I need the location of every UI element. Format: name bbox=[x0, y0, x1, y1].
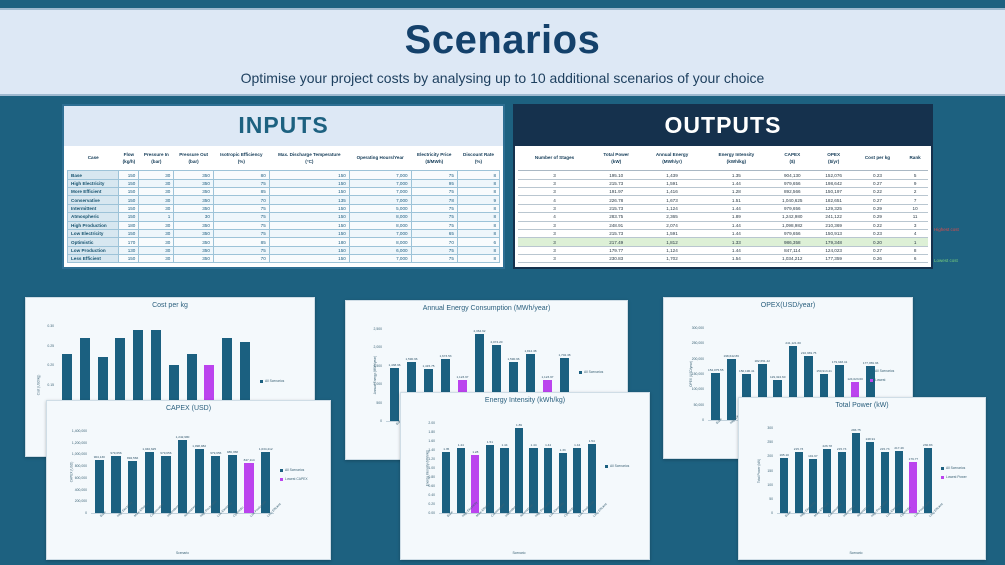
bar-value-label: 1,034,212 bbox=[259, 447, 273, 451]
chart-title: Energy Intensity (kWh/kg) bbox=[401, 393, 649, 404]
outputs-header-col-1: Total Power(kW) bbox=[591, 148, 641, 171]
cell-opex: 124,023 bbox=[815, 246, 853, 254]
y-tick-label: 1.20 bbox=[401, 457, 435, 461]
cell-capex: 986,358 bbox=[770, 238, 815, 246]
cell-stages: 4 bbox=[518, 213, 591, 221]
y-tick-label: 400,000 bbox=[47, 488, 87, 492]
legend-label: All Scenarios bbox=[584, 370, 603, 375]
y-tick-label: 1,500 bbox=[346, 364, 382, 368]
bar-item[interactable]: 198,642.86 bbox=[723, 328, 738, 420]
chart-title: Total Power (kW) bbox=[739, 398, 985, 409]
bar[interactable] bbox=[244, 463, 253, 513]
table-row[interactable]: 3217.491,8121.33986,358179,3480.201 bbox=[518, 238, 928, 246]
table-row[interactable]: More Efficient15030350851507,000758 bbox=[68, 188, 500, 196]
cell-discount: 9 bbox=[457, 196, 499, 204]
cell-price: 75 bbox=[411, 188, 457, 196]
legend-item[interactable]: Lowest CAPEX bbox=[280, 477, 330, 482]
cell-stages: 3 bbox=[518, 229, 591, 237]
y-tick-label: 300,000 bbox=[664, 326, 704, 330]
bar-value-label: 1,590.96 bbox=[507, 357, 519, 361]
bar-value-label: 1.54 bbox=[589, 439, 595, 443]
cell-p_out: 350 bbox=[174, 179, 214, 187]
cell-power: 195.10 bbox=[591, 171, 641, 179]
bar-value-label: 283.75 bbox=[851, 428, 860, 432]
y-tick-label: 0 bbox=[664, 418, 704, 422]
legend-swatch bbox=[870, 379, 873, 382]
y-tick-label: 1.00 bbox=[401, 466, 435, 470]
cell-hours: 7,000 bbox=[349, 255, 411, 263]
cell-cost: 0.22 bbox=[853, 221, 902, 229]
cell-flow: 170 bbox=[119, 238, 139, 246]
bar-value-label: 1,242,980 bbox=[176, 435, 190, 439]
y-tick-label: 150,000 bbox=[664, 372, 704, 376]
cell-temp: 150 bbox=[269, 255, 349, 263]
legend-item[interactable]: All Scenarios bbox=[870, 369, 912, 374]
cell-capex: 1,034,212 bbox=[770, 255, 815, 263]
cell-price: 75 bbox=[411, 204, 457, 212]
y-tick-label: 2.00 bbox=[401, 421, 435, 425]
table-row[interactable]: Base15030350801507,000758 bbox=[68, 171, 500, 179]
bar-value-label: 150,913.41 bbox=[816, 369, 831, 373]
cell-power: 215.73 bbox=[591, 229, 641, 237]
bar-item[interactable]: 979,656 bbox=[108, 431, 125, 513]
bar-value-label: 904,130 bbox=[94, 455, 105, 459]
bar-value-label: 1,415.75 bbox=[422, 364, 434, 368]
chart-title: OPEX(USD/year) bbox=[664, 298, 912, 309]
cell-price: 75 bbox=[411, 255, 457, 263]
chart-title: Annual Energy Consumption (MWh/year) bbox=[346, 301, 627, 312]
y-tick-label: 0.60 bbox=[401, 484, 435, 488]
cell-flow: 130 bbox=[119, 246, 139, 254]
x-tick-labels: BaseHigh ElectricityMore EfficientConser… bbox=[777, 515, 935, 539]
cell-energy: 1,439 bbox=[641, 171, 703, 179]
cell-temp: 150 bbox=[269, 204, 349, 212]
legend-label: All Scenarios bbox=[285, 468, 304, 473]
cell-temp: 180 bbox=[269, 238, 349, 246]
cell-intensity: 1.33 bbox=[703, 238, 770, 246]
cell-p_in: 30 bbox=[139, 196, 174, 204]
x-axis-title: Scenario bbox=[439, 551, 599, 555]
cell-discount: 8 bbox=[457, 221, 499, 229]
cell-hours: 7,000 bbox=[349, 171, 411, 179]
cell-hours: 7,000 bbox=[349, 188, 411, 196]
chart-legend: All Scenarios bbox=[605, 464, 649, 473]
cell-hours: 5,000 bbox=[349, 204, 411, 212]
bar[interactable] bbox=[780, 458, 788, 513]
cell-p_in: 30 bbox=[139, 188, 174, 196]
bar[interactable] bbox=[442, 452, 450, 513]
cell-rank: 2 bbox=[902, 188, 928, 196]
bar-item[interactable]: 1,040,625 bbox=[141, 431, 158, 513]
x-tick-labels: BaseHigh ElectricityMore EfficientConser… bbox=[439, 515, 599, 539]
legend-swatch bbox=[280, 478, 283, 481]
inputs-panel-title: INPUTS bbox=[64, 106, 503, 146]
cell-temp: 150 bbox=[269, 229, 349, 237]
y-tick-label: 2,500 bbox=[346, 327, 382, 331]
bar-item[interactable]: 226.78 bbox=[820, 428, 834, 513]
legend-item[interactable]: All Scenarios bbox=[605, 464, 649, 469]
cell-intensity: 1.35 bbox=[703, 171, 770, 179]
cell-temp: 135 bbox=[269, 196, 349, 204]
cell-capex: 892,566 bbox=[770, 188, 815, 196]
bar-value-label: 248.91 bbox=[866, 437, 875, 441]
y-tick-label: 1.40 bbox=[401, 448, 435, 452]
cell-capex: 1,242,980 bbox=[770, 213, 815, 221]
y-tick-label: 1.60 bbox=[401, 439, 435, 443]
cell-flow: 150 bbox=[119, 255, 139, 263]
x-axis-title: Scenario bbox=[777, 551, 935, 555]
bar-item[interactable]: 1.44 bbox=[497, 423, 512, 513]
bar-item[interactable]: 1.44 bbox=[526, 423, 541, 513]
cell-eff: 75 bbox=[213, 204, 269, 212]
table-row[interactable]: Optimistic17030350851808,000706 bbox=[68, 238, 500, 246]
cell-eff: 75 bbox=[213, 246, 269, 254]
inputs-header-row: CaseFlow(kg/h)Pressure In(bar)Pressure O… bbox=[68, 148, 500, 171]
bar-item[interactable]: 1.89 bbox=[512, 423, 527, 513]
cell-case: Intermittent bbox=[68, 204, 119, 212]
cell-hours: 8,000 bbox=[349, 221, 411, 229]
legend-swatch bbox=[280, 469, 283, 472]
cell-intensity: 1.54 bbox=[703, 255, 770, 263]
bar-value-label: 2,074.20 bbox=[490, 340, 502, 344]
cell-eff: 75 bbox=[213, 221, 269, 229]
bar[interactable] bbox=[852, 433, 860, 513]
cell-energy: 1,702 bbox=[641, 255, 703, 263]
cell-discount: 8 bbox=[457, 188, 499, 196]
cell-power: 215.73 bbox=[591, 179, 641, 187]
cell-price: 95 bbox=[411, 179, 457, 187]
bar[interactable] bbox=[711, 373, 720, 420]
bar-item[interactable]: 986,358 bbox=[224, 431, 241, 513]
cell-discount: 8 bbox=[457, 229, 499, 237]
bar-value-label: 217.49 bbox=[894, 446, 903, 450]
cell-opex: 182,651 bbox=[815, 196, 853, 204]
cell-opex: 179,348 bbox=[815, 238, 853, 246]
table-row[interactable]: 4283.752,3651.891,242,980241,1220.2911 bbox=[518, 213, 928, 221]
y-axis-title: Annual Energy (MWh/year) bbox=[373, 356, 377, 394]
y-tick-label: 150 bbox=[739, 469, 773, 473]
table-row[interactable]: 3215.731,1241.44979,656129,3250.2910 bbox=[518, 204, 928, 212]
legend-swatch bbox=[870, 370, 873, 373]
cell-rank: 1 bbox=[902, 238, 928, 246]
legend-swatch bbox=[605, 465, 608, 468]
bar-value-label: 195.10 bbox=[779, 453, 788, 457]
cell-opex: 152,076 bbox=[815, 171, 853, 179]
outputs-header-col-7: Rank bbox=[902, 148, 928, 171]
bar-item[interactable]: 904,130 bbox=[91, 431, 108, 513]
legend-item[interactable]: All Scenarios bbox=[260, 379, 314, 384]
cell-cost: 0.29 bbox=[853, 213, 902, 221]
cell-flow: 180 bbox=[119, 221, 139, 229]
legend-item[interactable]: All Scenarios bbox=[941, 466, 985, 471]
cell-cost: 0.20 bbox=[853, 238, 902, 246]
table-row[interactable]: 3215.731,5911.44979,656198,6420.279 bbox=[518, 179, 928, 187]
table-row[interactable]: High Production18030350751508,000758 bbox=[68, 221, 500, 229]
y-tick-label: 0.25 bbox=[26, 344, 54, 348]
table-row[interactable]: 3195.101,4391.35904,130152,0760.235 bbox=[518, 171, 928, 179]
cell-p_in: 30 bbox=[139, 238, 174, 246]
bar-value-label: 979,656 bbox=[110, 451, 121, 455]
cell-stages: 3 bbox=[518, 171, 591, 179]
bar-value-label: 152,075.55 bbox=[708, 368, 723, 372]
cell-opex: 210,369 bbox=[815, 221, 853, 229]
table-row[interactable]: 3191.971,4161.28892,566150,1970.222 bbox=[518, 188, 928, 196]
cell-power: 191.97 bbox=[591, 188, 641, 196]
legend-swatch bbox=[260, 380, 263, 383]
y-tick-label: 0 bbox=[346, 419, 382, 423]
inputs-header-col-4: Isotropic Efficiency(%) bbox=[213, 148, 269, 171]
cell-p_in: 30 bbox=[139, 171, 174, 179]
legend-label: All Scenarios bbox=[265, 379, 284, 384]
legend-label: All Scenarios bbox=[946, 466, 965, 471]
bar-value-label: 2,364.62 bbox=[473, 329, 485, 333]
lowest-cost-annotation: Lowest cost bbox=[934, 258, 958, 263]
table-row[interactable]: 3179.771,1241.44847,114124,0230.278 bbox=[518, 246, 928, 254]
bar-item[interactable]: 215.73 bbox=[791, 428, 805, 513]
table-row[interactable]: Intermittent15030350751505,000758 bbox=[68, 204, 500, 212]
legend-item[interactable]: All Scenarios bbox=[280, 468, 330, 473]
bar-value-label: 1,123.97 bbox=[456, 375, 468, 379]
cell-case: More Efficient bbox=[68, 188, 119, 196]
bar-value-label: 1,812.38 bbox=[524, 349, 536, 353]
cell-power: 283.75 bbox=[591, 213, 641, 221]
legend-label: Lowest bbox=[875, 378, 885, 383]
bar-value-label: 177,359.36 bbox=[863, 361, 878, 365]
bars-group: 1.351.441.281.511.441.891.441.441.331.44… bbox=[439, 423, 599, 513]
cell-power: 217.49 bbox=[591, 238, 641, 246]
cell-rank: 8 bbox=[902, 246, 928, 254]
cell-capex: 979,656 bbox=[770, 204, 815, 212]
bar-item[interactable]: 215.73 bbox=[834, 428, 848, 513]
cell-energy: 1,124 bbox=[641, 246, 703, 254]
legend-label: All Scenarios bbox=[610, 464, 629, 469]
table-row[interactable]: Atmospheric150130751508,000758 bbox=[68, 213, 500, 221]
y-tick-label: 200 bbox=[739, 454, 773, 458]
cell-rank: 7 bbox=[902, 196, 928, 204]
bar-value-label: 241,121.60 bbox=[785, 341, 800, 345]
bar-item[interactable]: 1.35 bbox=[439, 423, 454, 513]
cell-flow: 150 bbox=[119, 179, 139, 187]
bar-value-label: 1.44 bbox=[531, 443, 537, 447]
cell-stages: 4 bbox=[518, 196, 591, 204]
cell-temp: 150 bbox=[269, 179, 349, 187]
table-row[interactable]: Low Electricity15030350751507,000658 bbox=[68, 229, 500, 237]
y-tick-label: 1.80 bbox=[401, 430, 435, 434]
cell-capex: 904,130 bbox=[770, 171, 815, 179]
cell-stages: 3 bbox=[518, 255, 591, 263]
bar-item[interactable]: 979,656 bbox=[158, 431, 175, 513]
chart-legend: All ScenariosLowest Power bbox=[941, 466, 985, 484]
cell-eff: 75 bbox=[213, 213, 269, 221]
inputs-table: CaseFlow(kg/h)Pressure In(bar)Pressure O… bbox=[67, 148, 500, 263]
bar-item[interactable]: 1.33 bbox=[555, 423, 570, 513]
bar-value-label: 1.44 bbox=[545, 443, 551, 447]
inputs-header-col-6: Operating Hours/Year bbox=[349, 148, 411, 171]
cell-p_out: 350 bbox=[174, 188, 214, 196]
cell-case: Less Efficient bbox=[68, 255, 119, 263]
bar-item[interactable]: 1.51 bbox=[483, 423, 498, 513]
y-tick-label: 0 bbox=[739, 511, 773, 515]
cell-capex: 847,114 bbox=[770, 246, 815, 254]
cell-discount: 8 bbox=[457, 179, 499, 187]
table-row[interactable]: 3248.912,0741.441,098,982210,3690.223 bbox=[518, 221, 928, 229]
cell-hours: 8,000 bbox=[349, 238, 411, 246]
bar-item[interactable]: 847,114 bbox=[241, 431, 258, 513]
cell-p_in: 30 bbox=[139, 229, 174, 237]
bar[interactable] bbox=[95, 460, 104, 513]
chart-card-capex[interactable]: CAPEX (USD)CAPEX (USD)0200,000400,000600… bbox=[46, 400, 331, 560]
bar[interactable] bbox=[795, 452, 803, 513]
cell-power: 179.77 bbox=[591, 246, 641, 254]
legend-swatch bbox=[941, 476, 944, 479]
y-tick-label: 600,000 bbox=[47, 476, 87, 480]
table-row[interactable]: 3230.831,7021.541,034,212177,3590.266 bbox=[518, 255, 928, 263]
highest-cost-annotation: Highest cost bbox=[934, 227, 959, 232]
cell-capex: 1,098,982 bbox=[770, 221, 815, 229]
y-tick-label: 0.80 bbox=[401, 475, 435, 479]
bar-value-label: 1.44 bbox=[458, 443, 464, 447]
outputs-table: Number of StagesTotal Power(kW)Annual En… bbox=[518, 148, 928, 263]
bar-item[interactable]: 1.44 bbox=[570, 423, 585, 513]
legend-item[interactable]: Lowest Power bbox=[941, 475, 985, 480]
cell-rank: 11 bbox=[902, 213, 928, 221]
bar-item[interactable]: 1,242,980 bbox=[174, 431, 191, 513]
y-tick-label: 50 bbox=[739, 497, 773, 501]
cell-p_in: 30 bbox=[139, 246, 174, 254]
cell-p_out: 350 bbox=[174, 255, 214, 263]
inputs-header-col-7: Electricity Price($/MWh) bbox=[411, 148, 457, 171]
bar-value-label: 179.77 bbox=[909, 457, 918, 461]
cell-opex: 150,913 bbox=[815, 229, 853, 237]
chart-card-total_power[interactable]: Total Power (kW)Total Power (kW)05010015… bbox=[738, 397, 986, 560]
cell-hours: 6,000 bbox=[349, 246, 411, 254]
cell-case: High Production bbox=[68, 221, 119, 229]
cell-eff: 70 bbox=[213, 196, 269, 204]
bar[interactable] bbox=[573, 448, 581, 513]
table-row[interactable]: 4226.781,6731.511,040,625182,6510.277 bbox=[518, 196, 928, 204]
x-axis-title: Scenario bbox=[91, 551, 274, 555]
outputs-panel-title: OUTPUTS bbox=[515, 106, 931, 146]
page-header: Scenarios Optimise your project costs by… bbox=[0, 8, 1005, 96]
table-row[interactable]: High Electricity15030350751507,000958 bbox=[68, 179, 500, 187]
cell-case: Conservative bbox=[68, 196, 119, 204]
bar-value-label: 1,673.53 bbox=[439, 354, 451, 358]
cell-discount: 8 bbox=[457, 255, 499, 263]
cell-cost: 0.27 bbox=[853, 179, 902, 187]
bar-item[interactable]: 892,566 bbox=[124, 431, 141, 513]
cell-discount: 8 bbox=[457, 246, 499, 254]
cell-opex: 198,642 bbox=[815, 179, 853, 187]
cell-price: 75 bbox=[411, 171, 457, 179]
cell-stages: 3 bbox=[518, 221, 591, 229]
chart-title: CAPEX (USD) bbox=[47, 401, 330, 412]
cell-stages: 3 bbox=[518, 238, 591, 246]
y-tick-label: 200,000 bbox=[47, 499, 87, 503]
bar-item[interactable]: 1,098,982 bbox=[191, 431, 208, 513]
cell-stages: 3 bbox=[518, 188, 591, 196]
cell-opex: 177,359 bbox=[815, 255, 853, 263]
cell-p_out: 30 bbox=[174, 213, 214, 221]
bar[interactable] bbox=[178, 440, 187, 513]
cell-intensity: 1.89 bbox=[703, 213, 770, 221]
y-tick-label: 200,000 bbox=[664, 357, 704, 361]
cell-power: 226.78 bbox=[591, 196, 641, 204]
table-row[interactable]: 3215.731,5911.44979,656150,9130.234 bbox=[518, 229, 928, 237]
table-row[interactable]: Low Production13030350751506,000758 bbox=[68, 246, 500, 254]
chart-card-energy_intensity[interactable]: Energy Intensity (kWh/kg)Energy Intensit… bbox=[400, 392, 650, 560]
inputs-panel-body: CaseFlow(kg/h)Pressure In(bar)Pressure O… bbox=[64, 146, 503, 267]
cell-temp: 150 bbox=[269, 221, 349, 229]
bar-item[interactable]: 1.44 bbox=[454, 423, 469, 513]
bar[interactable] bbox=[390, 368, 400, 421]
cell-temp: 150 bbox=[269, 188, 349, 196]
outputs-header-col-3: Energy Intensity(kWh/kg) bbox=[703, 148, 770, 171]
chart-legend: All ScenariosLowest CAPEX bbox=[280, 468, 330, 486]
tables-region: INPUTS CaseFlow(kg/h)Pressure In(bar)Pre… bbox=[0, 96, 1005, 269]
cell-discount: 8 bbox=[457, 213, 499, 221]
bar-item[interactable]: 248.91 bbox=[863, 428, 877, 513]
outputs-header-col-0: Number of Stages bbox=[518, 148, 591, 171]
bar[interactable] bbox=[909, 462, 917, 513]
bar[interactable] bbox=[727, 359, 736, 420]
cell-rank: 3 bbox=[902, 221, 928, 229]
y-tick-label: 0 bbox=[47, 511, 87, 515]
bar-value-label: 1.33 bbox=[560, 448, 566, 452]
cell-flow: 150 bbox=[119, 229, 139, 237]
y-tick-label: 0.00 bbox=[401, 511, 435, 515]
cell-intensity: 1.51 bbox=[703, 196, 770, 204]
bar-value-label: 847,114 bbox=[244, 458, 255, 462]
legend-label: Lowest CAPEX bbox=[285, 477, 308, 482]
top-accent-bar bbox=[0, 0, 1005, 8]
bar-value-label: 226.78 bbox=[823, 444, 832, 448]
bar-item[interactable]: 283.75 bbox=[849, 428, 863, 513]
cell-hours: 7,000 bbox=[349, 196, 411, 204]
bar[interactable] bbox=[457, 448, 465, 513]
y-tick-label: 1,200,000 bbox=[47, 441, 87, 445]
x-tick-labels: BaseHigh ElectricityMore EfficientConser… bbox=[91, 515, 274, 539]
bar-value-label: 1.44 bbox=[501, 443, 507, 447]
cell-cost: 0.27 bbox=[853, 196, 902, 204]
bar-item[interactable]: 152,075.55 bbox=[708, 328, 723, 420]
table-row[interactable]: Conservative15030350701357,000789 bbox=[68, 196, 500, 204]
cell-p_out: 350 bbox=[174, 238, 214, 246]
legend-item[interactable]: Lowest bbox=[870, 378, 912, 383]
cell-eff: 75 bbox=[213, 229, 269, 237]
y-tick-label: 0.40 bbox=[401, 493, 435, 497]
bar-value-label: 1.44 bbox=[574, 443, 580, 447]
legend-item[interactable]: All Scenarios bbox=[579, 370, 627, 375]
bar-value-label: 979,656 bbox=[160, 451, 171, 455]
cell-case: High Electricity bbox=[68, 179, 119, 187]
cell-opex: 150,197 bbox=[815, 188, 853, 196]
y-tick-label: 50,000 bbox=[664, 403, 704, 407]
y-tick-label: 1,000,000 bbox=[47, 452, 87, 456]
cell-case: Low Electricity bbox=[68, 229, 119, 237]
bar-value-label: 1,123.97 bbox=[541, 375, 553, 379]
outputs-panel-body: Number of StagesTotal Power(kW)Annual En… bbox=[515, 146, 931, 267]
y-tick-label: 1,400,000 bbox=[47, 429, 87, 433]
bar-item[interactable]: 179.77 bbox=[906, 428, 920, 513]
cell-energy: 1,124 bbox=[641, 204, 703, 212]
bar[interactable] bbox=[111, 456, 120, 513]
bar-item[interactable]: 195.10 bbox=[777, 428, 791, 513]
chart-legend: All Scenarios bbox=[579, 370, 627, 379]
y-tick-label: 500 bbox=[346, 401, 382, 405]
bar[interactable] bbox=[515, 428, 523, 513]
table-row[interactable]: Less Efficient15030350701507,000758 bbox=[68, 255, 500, 263]
cell-rank: 5 bbox=[902, 171, 928, 179]
